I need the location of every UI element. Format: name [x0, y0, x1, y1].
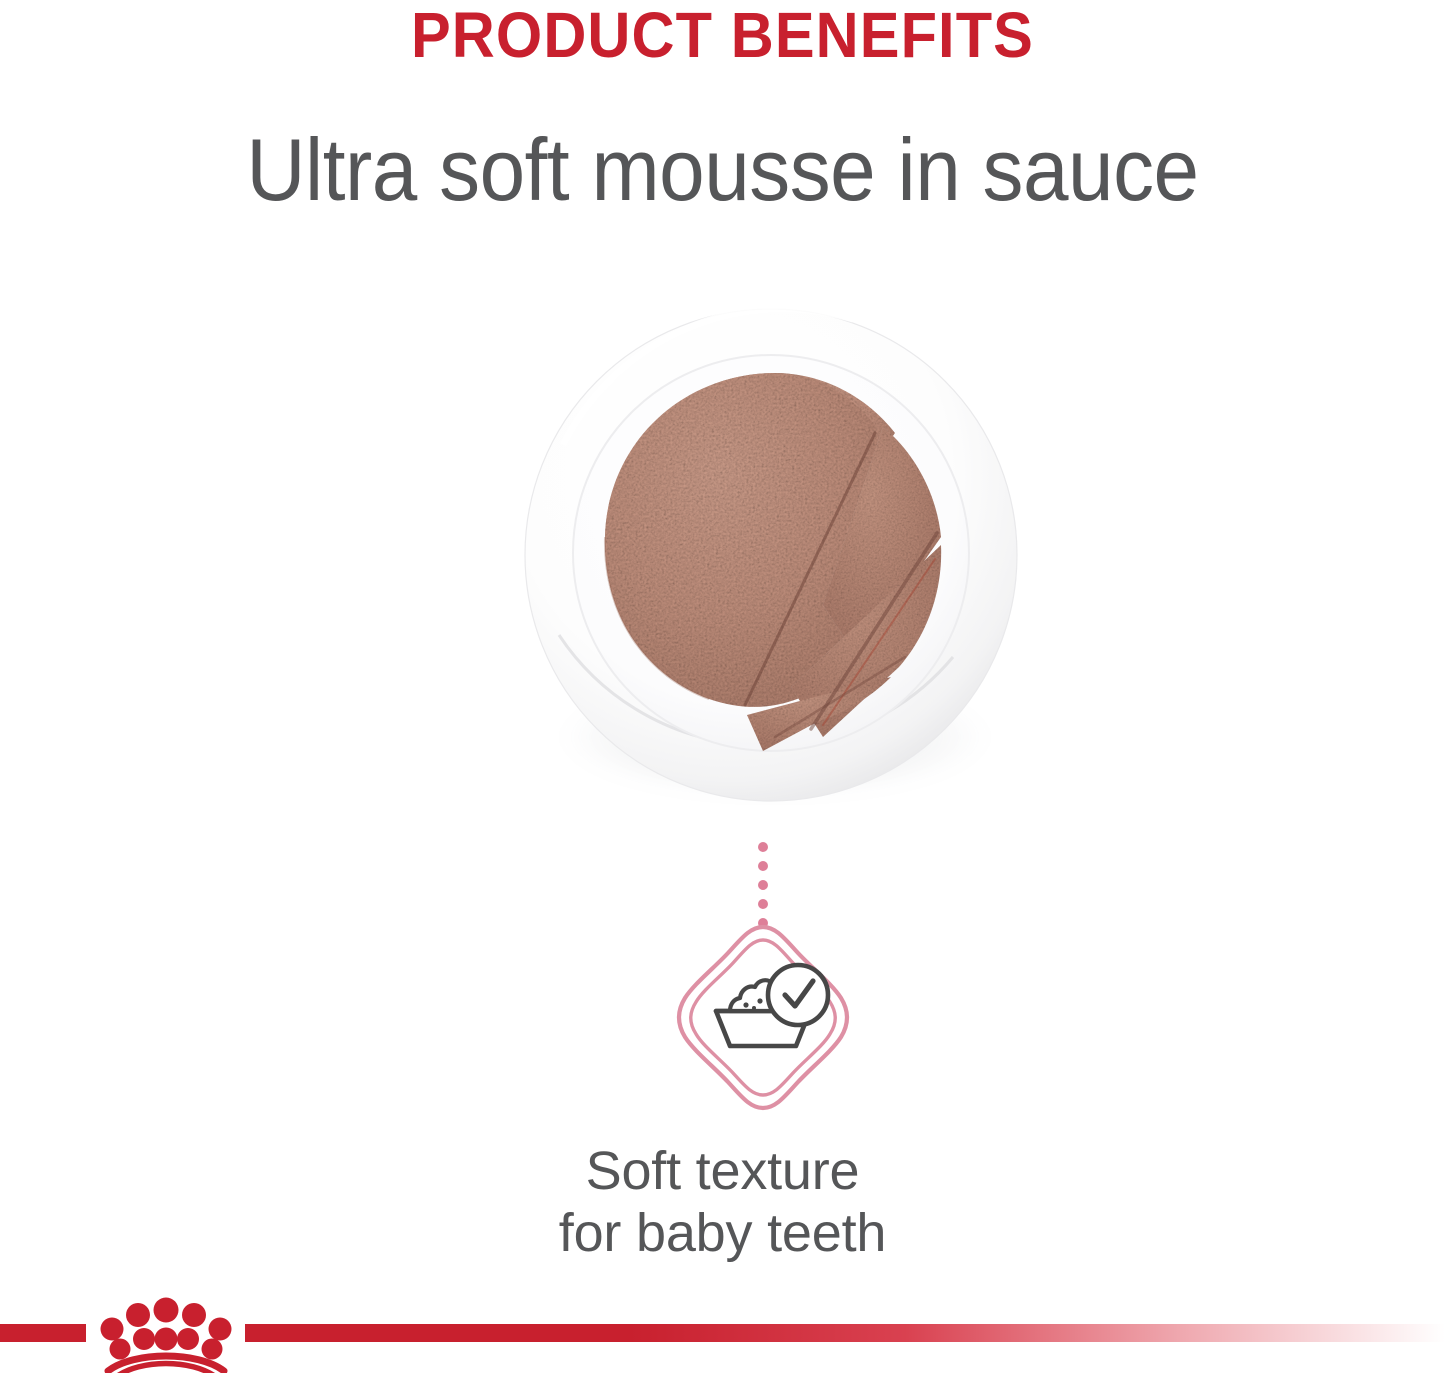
footer-bar-left: [0, 1324, 86, 1342]
footer-bar-right: [245, 1324, 1445, 1342]
page-title: PRODUCT BENEFITS: [51, 0, 1395, 70]
dotted-connector: [752, 840, 774, 926]
connector-dot: [758, 842, 768, 852]
benefit-caption-line-1: Soft texture: [0, 1140, 1445, 1202]
connector-dot: [758, 899, 768, 909]
product-photo: [523, 305, 1019, 805]
benefit-caption: Soft texture for baby teeth: [0, 1140, 1445, 1264]
connector-dot: [758, 880, 768, 890]
connector-dot: [758, 861, 768, 871]
footer: [0, 1277, 1445, 1373]
royal-canin-crown-logo: [86, 1277, 246, 1373]
food-bowl-check-icon: [672, 922, 854, 1114]
benefit-caption-line-2: for baby teeth: [0, 1202, 1445, 1264]
page-subtitle: Ultra soft mousse in sauce: [51, 118, 1395, 222]
